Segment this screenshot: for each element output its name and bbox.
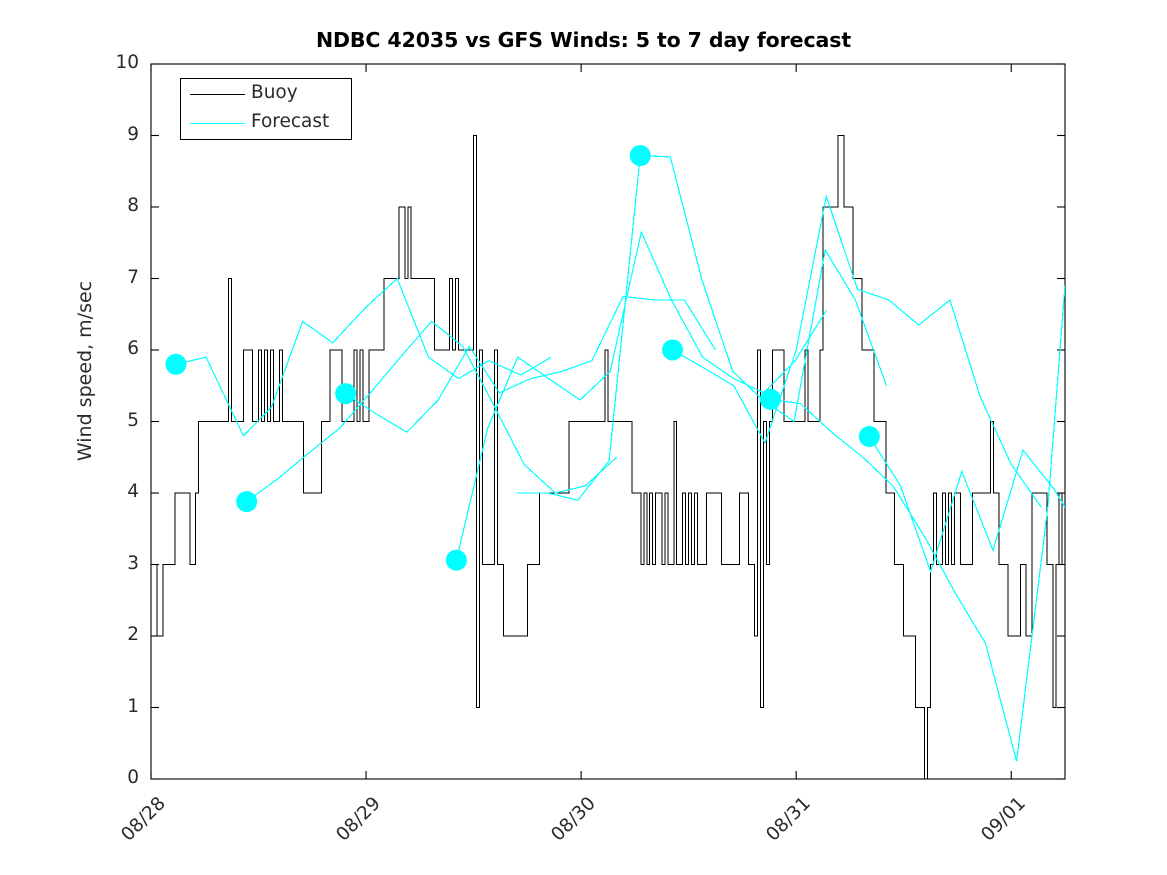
data-series-group [151,136,1065,780]
y-tick-label: 8 [99,195,139,216]
forecast-start-marker [446,550,467,571]
forecast-start-marker [760,389,781,410]
y-tick-label: 1 [99,696,139,717]
y-tick-label: 4 [99,481,139,502]
series-line [673,196,1042,507]
y-tick-label: 0 [99,767,139,788]
series-line [151,136,1065,780]
legend-item-buoy: Buoy [181,79,353,110]
forecast-start-marker [630,145,651,166]
y-tick-label: 10 [99,52,139,73]
y-tick-label: 3 [99,553,139,574]
y-tick-label: 5 [99,410,139,431]
forecast-start-marker [335,383,356,404]
series-line [247,321,617,501]
plot-canvas [0,0,1167,875]
legend-swatch-forecast [190,123,245,124]
forecast-start-marker [662,340,683,361]
series-line [869,437,1065,572]
legend-swatch-buoy [190,94,245,95]
y-tick-label: 2 [99,624,139,645]
series-line [770,286,1065,761]
legend-label-forecast: Forecast [251,111,329,132]
y-tick-label: 6 [99,338,139,359]
series-line [346,296,716,432]
forecast-start-marker [859,426,880,447]
forecast-start-marker [236,491,257,512]
chart-legend: Buoy Forecast [180,78,352,140]
y-tick-label: 9 [99,124,139,145]
legend-item-forecast: Forecast [181,108,353,139]
y-tick-label: 7 [99,267,139,288]
legend-label-buoy: Buoy [251,82,298,103]
forecast-start-marker [165,354,186,375]
chart-figure: NDBC 42035 vs GFS Winds: 5 to 7 day fore… [0,0,1167,875]
